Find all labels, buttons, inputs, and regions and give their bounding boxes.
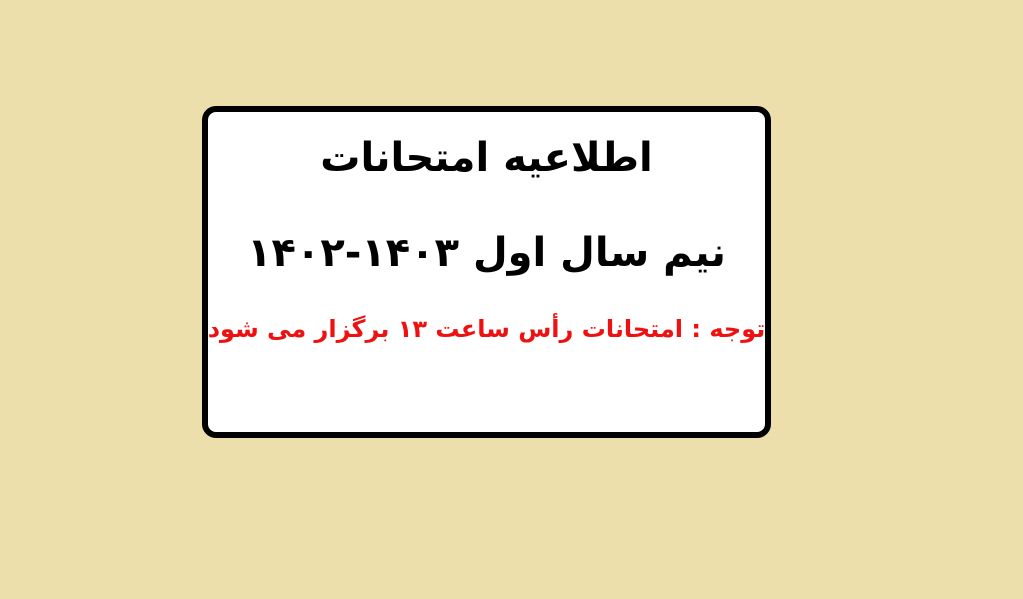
announcement-card-content: اطلاعیه امتحانات نیم سال اول ۱۴۰۳-۱۴۰۲ ت… [208,112,765,345]
exam-time-notice: توجه : امتحانات رأس ساعت ۱۳ برگزار می شو… [208,314,766,345]
poster-canvas: اطلاعیه امتحانات نیم سال اول ۱۴۰۳-۱۴۰۲ ت… [0,0,1023,599]
announcement-card: اطلاعیه امتحانات نیم سال اول ۱۴۰۳-۱۴۰۲ ت… [202,106,771,438]
announcement-title: اطلاعیه امتحانات [320,134,652,183]
announcement-term-subtitle: نیم سال اول ۱۴۰۳-۱۴۰۲ [247,229,726,278]
